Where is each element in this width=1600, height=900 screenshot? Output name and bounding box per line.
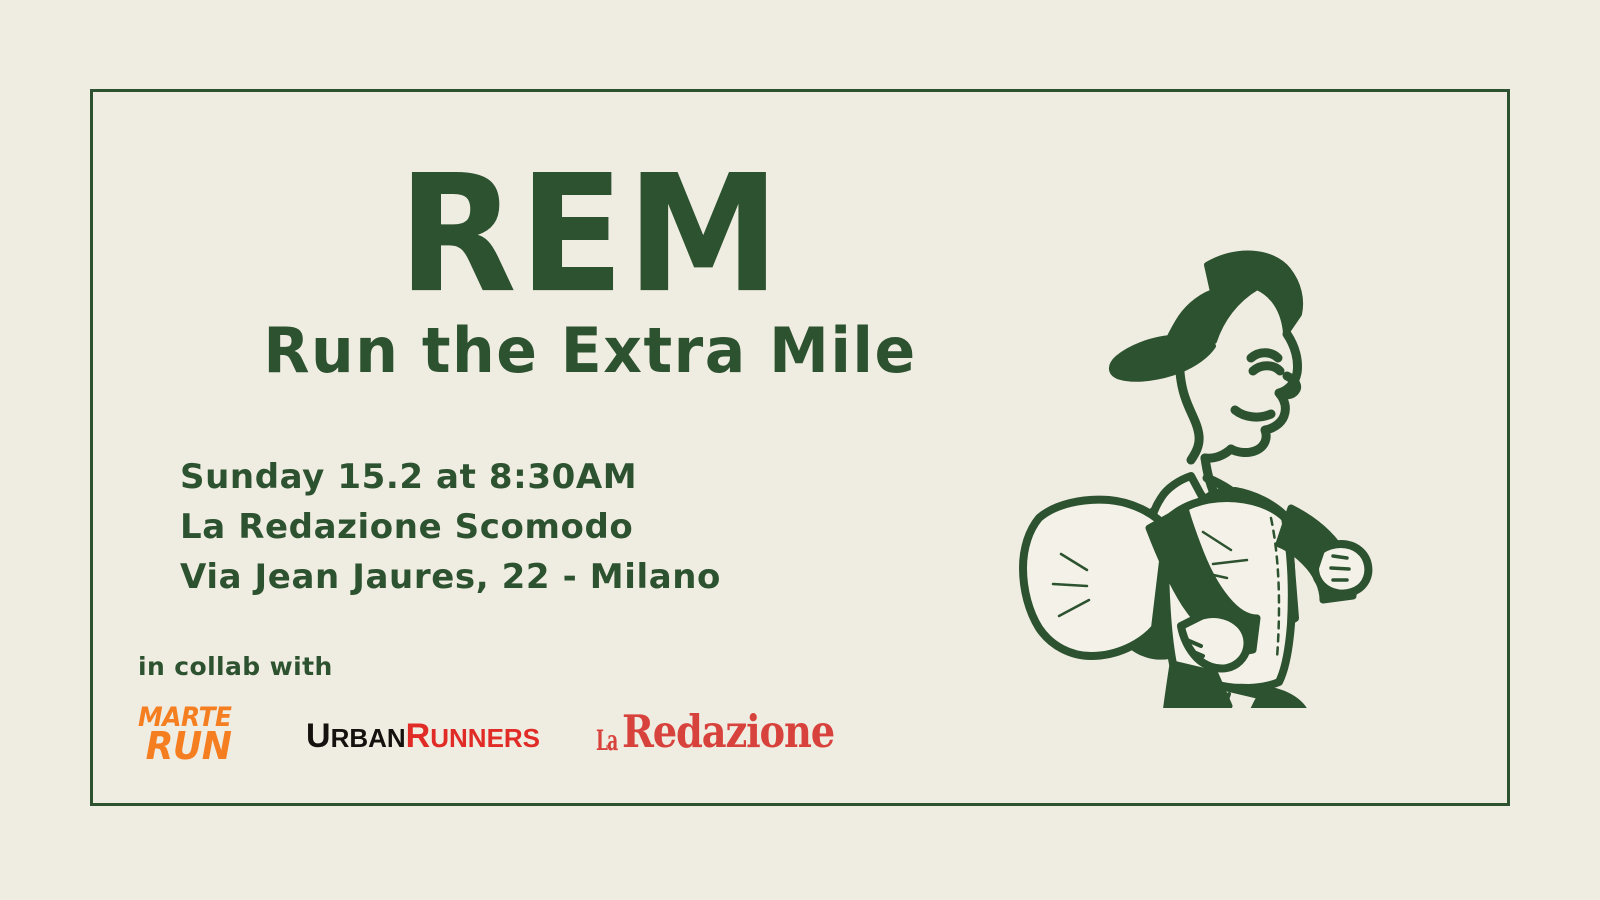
runner-illustration xyxy=(935,188,1395,708)
logo-la-redazione-word: Redazione xyxy=(622,705,834,758)
partner-logos: MARTE RUN URBANRUNNERS LaRedazione xyxy=(138,692,843,762)
logo-urban-runners: URBANRUNNERS xyxy=(306,717,540,756)
collab-section: in collab with xyxy=(138,652,333,681)
poster-canvas: REM Run the Extra Mile Sunday 15.2 at 8:… xyxy=(0,0,1600,900)
event-datetime: Sunday 15.2 at 8:30AM xyxy=(180,452,721,502)
logo-la-redazione-mark: La xyxy=(596,731,617,754)
logo-marte-run: MARTE RUN xyxy=(138,706,248,764)
logo-urban-u: U xyxy=(306,717,331,755)
logo-la-redazione: LaRedazione xyxy=(596,711,843,758)
event-details: Sunday 15.2 at 8:30AM La Redazione Scomo… xyxy=(180,452,721,602)
logo-marte-run-line2: RUN xyxy=(138,729,243,764)
event-address: Via Jean Jaures, 22 - Milano xyxy=(180,552,721,602)
event-venue: La Redazione Scomodo xyxy=(180,502,721,552)
collab-label: in collab with xyxy=(138,652,333,681)
logo-runners-r: R xyxy=(406,717,431,755)
runner-carrying-sack-icon xyxy=(935,188,1395,708)
logo-runners-unners: UNNERS xyxy=(430,723,540,753)
logo-urban-rban: RBAN xyxy=(331,723,406,753)
